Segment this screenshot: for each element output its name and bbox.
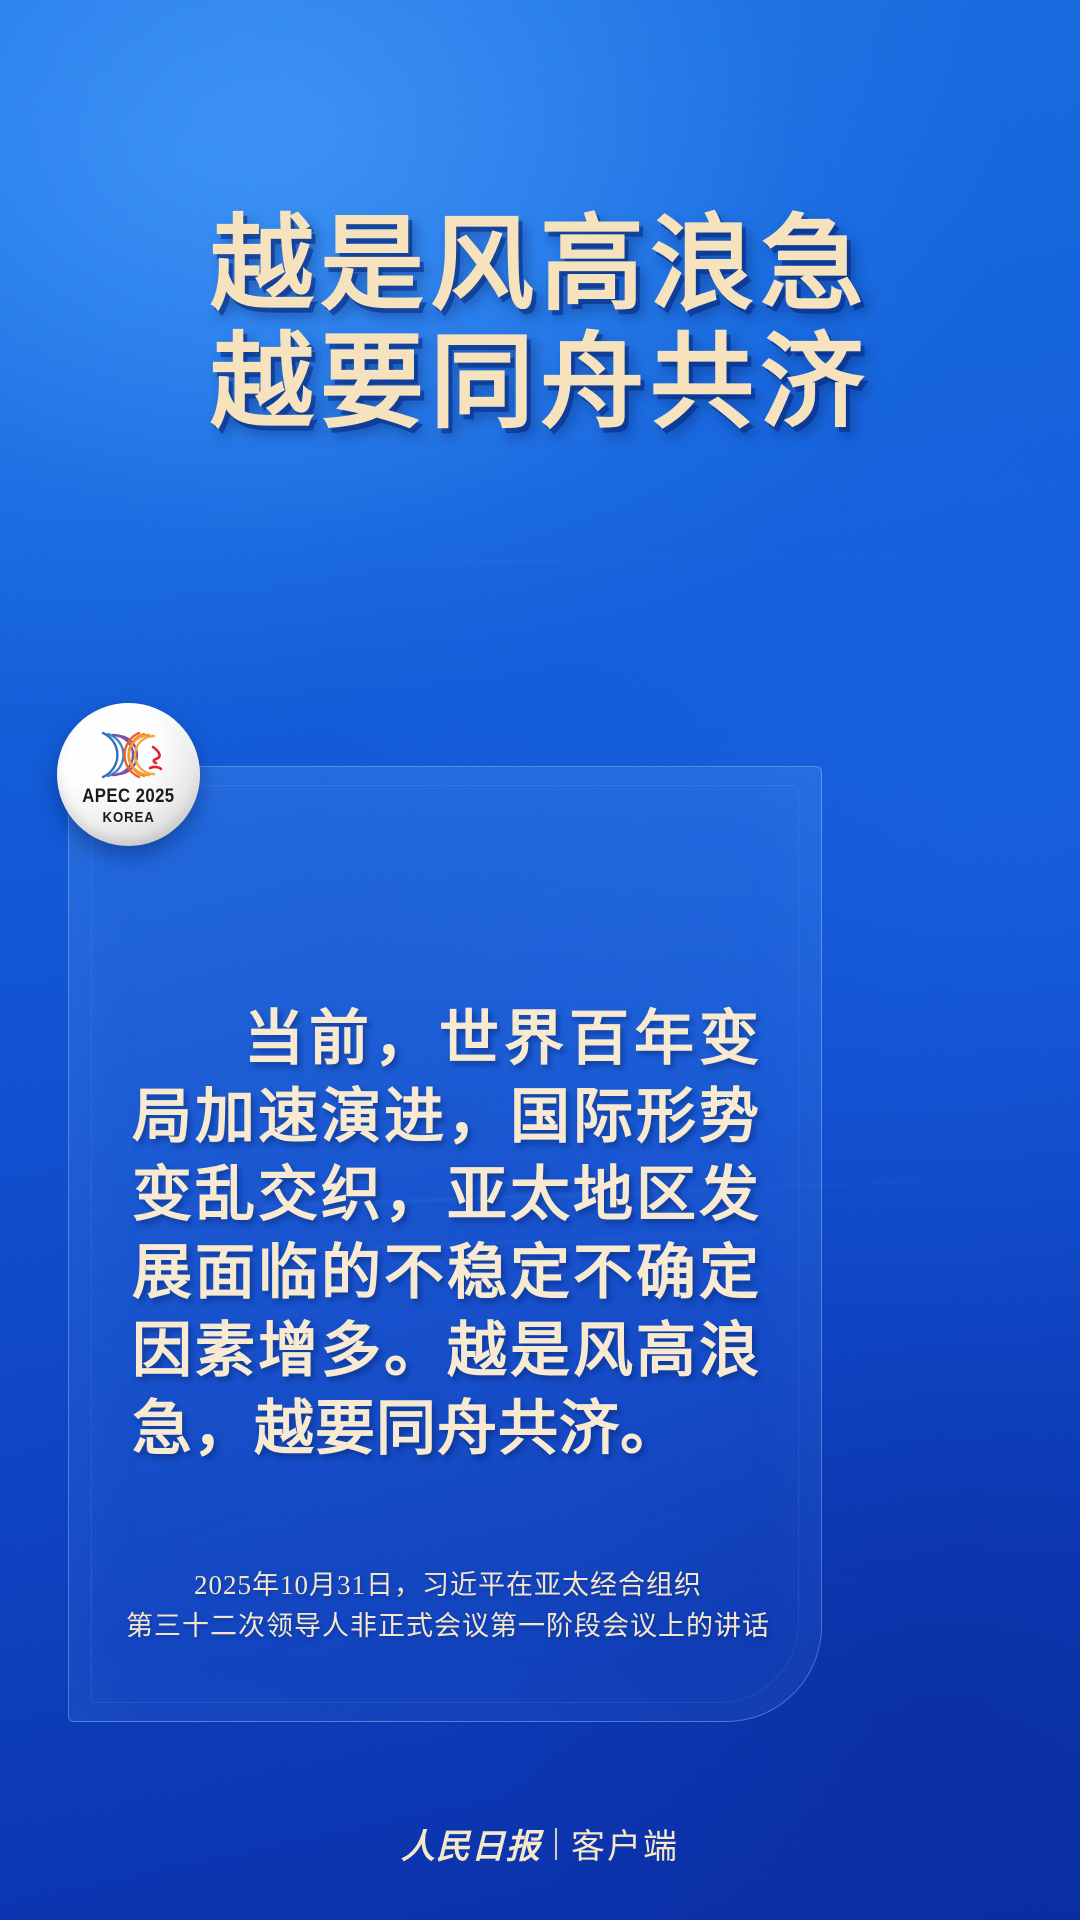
footer-divider [555, 1828, 557, 1860]
poster-headline: 越是风高浪急 越要同舟共济 [0, 206, 1080, 442]
headline-line-2: 越要同舟共济 [0, 324, 1080, 442]
apec-emblem-badge: APEC 2025 KOREA [57, 703, 200, 846]
product-name-text: 客户端 [571, 1819, 679, 1868]
publisher-logo-text: 人民日报 [401, 1819, 541, 1868]
poster-canvas: 越是风高浪急 越要同舟共济 [0, 0, 1080, 1920]
attribution-line-1: 2025年10月31日，习近平在亚太经合组织 [98, 1565, 798, 1606]
footer-branding: 人民日报 客户端 [0, 1819, 1080, 1868]
apec-badge-line-1: APEC 2025 [82, 786, 174, 808]
apec-badge-line-2: KOREA [102, 809, 154, 826]
apec-emblem-icon [83, 723, 175, 783]
quote-text: 当前，世界百年变局加速演进，国际形势变乱交织，亚太地区发展面临的不稳定不确定因素… [132, 1000, 760, 1468]
light-streak [0, 549, 1080, 574]
headline-line-1: 越是风高浪急 [0, 206, 1080, 324]
quote-attribution: 2025年10月31日，习近平在亚太经合组织 第三十二次领导人非正式会议第一阶段… [98, 1565, 798, 1647]
attribution-line-2: 第三十二次领导人非正式会议第一阶段会议上的讲话 [98, 1606, 798, 1647]
